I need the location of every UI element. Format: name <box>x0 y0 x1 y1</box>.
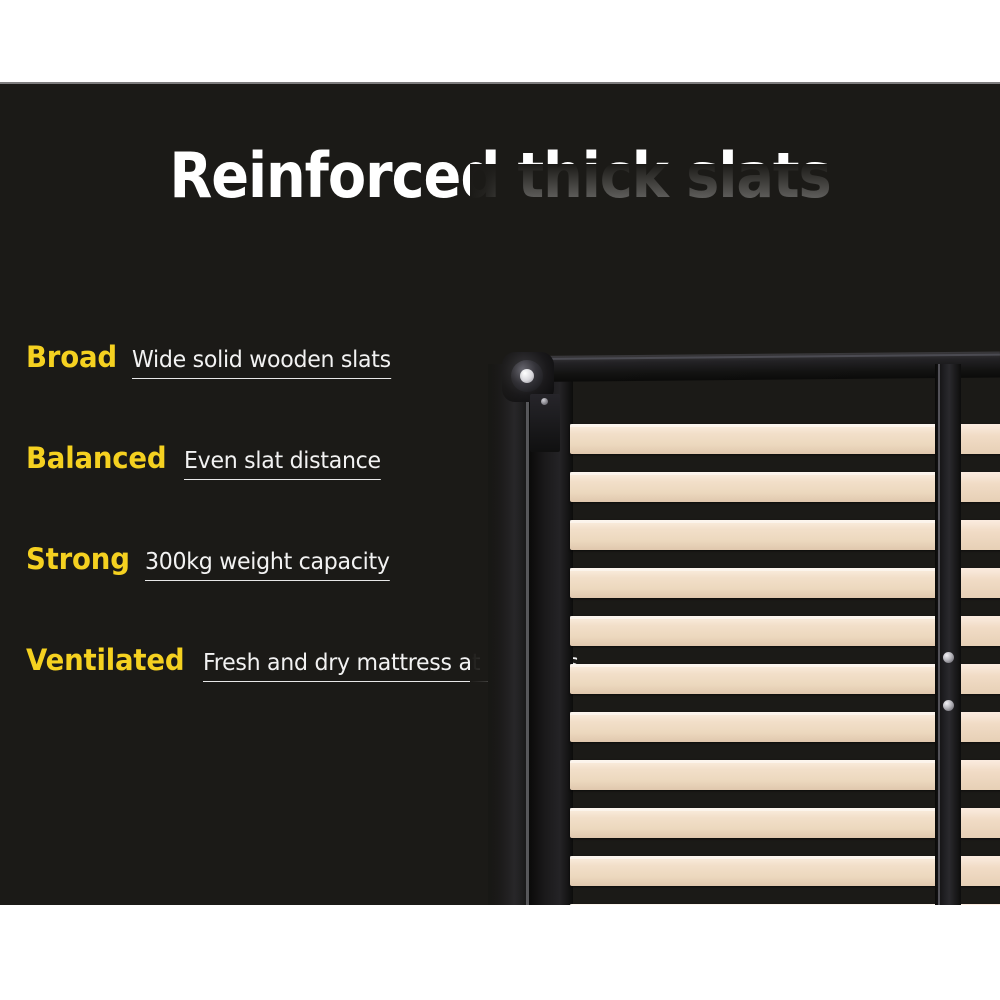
wooden-slat <box>957 808 1000 838</box>
dark-feature-panel: Reinforced thick slats Broad Wide solid … <box>0 82 1000 905</box>
feature-value-broad: Wide solid wooden slats <box>132 347 391 379</box>
feature-key-balanced: Balanced <box>26 441 166 475</box>
wooden-slat <box>957 664 1000 694</box>
centre-rail-highlight <box>938 364 940 905</box>
feature-key-strong: Strong <box>26 542 130 576</box>
wooden-slat <box>570 424 942 454</box>
product-feature-image: Reinforced thick slats Broad Wide solid … <box>0 0 1000 1000</box>
wooden-slat <box>957 760 1000 790</box>
wooden-slat <box>570 760 942 790</box>
frame-outer-post <box>488 364 530 905</box>
wooden-slat <box>570 472 942 502</box>
wooden-slat <box>957 424 1000 454</box>
feature-value-balanced: Even slat distance <box>184 448 381 480</box>
wooden-slat <box>957 568 1000 598</box>
wooden-slat <box>957 520 1000 550</box>
wooden-slat <box>957 904 1000 905</box>
wooden-slat <box>570 568 942 598</box>
wooden-slat <box>570 712 942 742</box>
bracket-screw-icon <box>541 398 548 405</box>
corner-bolt-icon <box>520 369 534 383</box>
wooden-slat <box>570 904 942 905</box>
panel-top-rule <box>0 82 1000 84</box>
feature-key-ventilated: Ventilated <box>26 643 184 677</box>
centre-rail-screw-lower-icon <box>943 700 954 711</box>
wooden-slat <box>570 664 942 694</box>
wooden-slat <box>570 808 942 838</box>
wooden-slat <box>570 856 942 886</box>
wooden-slat <box>570 520 942 550</box>
centre-rail-screw-upper-icon <box>943 652 954 663</box>
wooden-slat <box>957 712 1000 742</box>
feature-value-strong: 300kg weight capacity <box>145 549 390 581</box>
feature-key-broad: Broad <box>26 340 117 374</box>
bed-frame-photo <box>470 164 1000 905</box>
wooden-slat <box>957 616 1000 646</box>
wooden-slat <box>957 856 1000 886</box>
wooden-slat <box>957 472 1000 502</box>
wooden-slat <box>570 616 942 646</box>
